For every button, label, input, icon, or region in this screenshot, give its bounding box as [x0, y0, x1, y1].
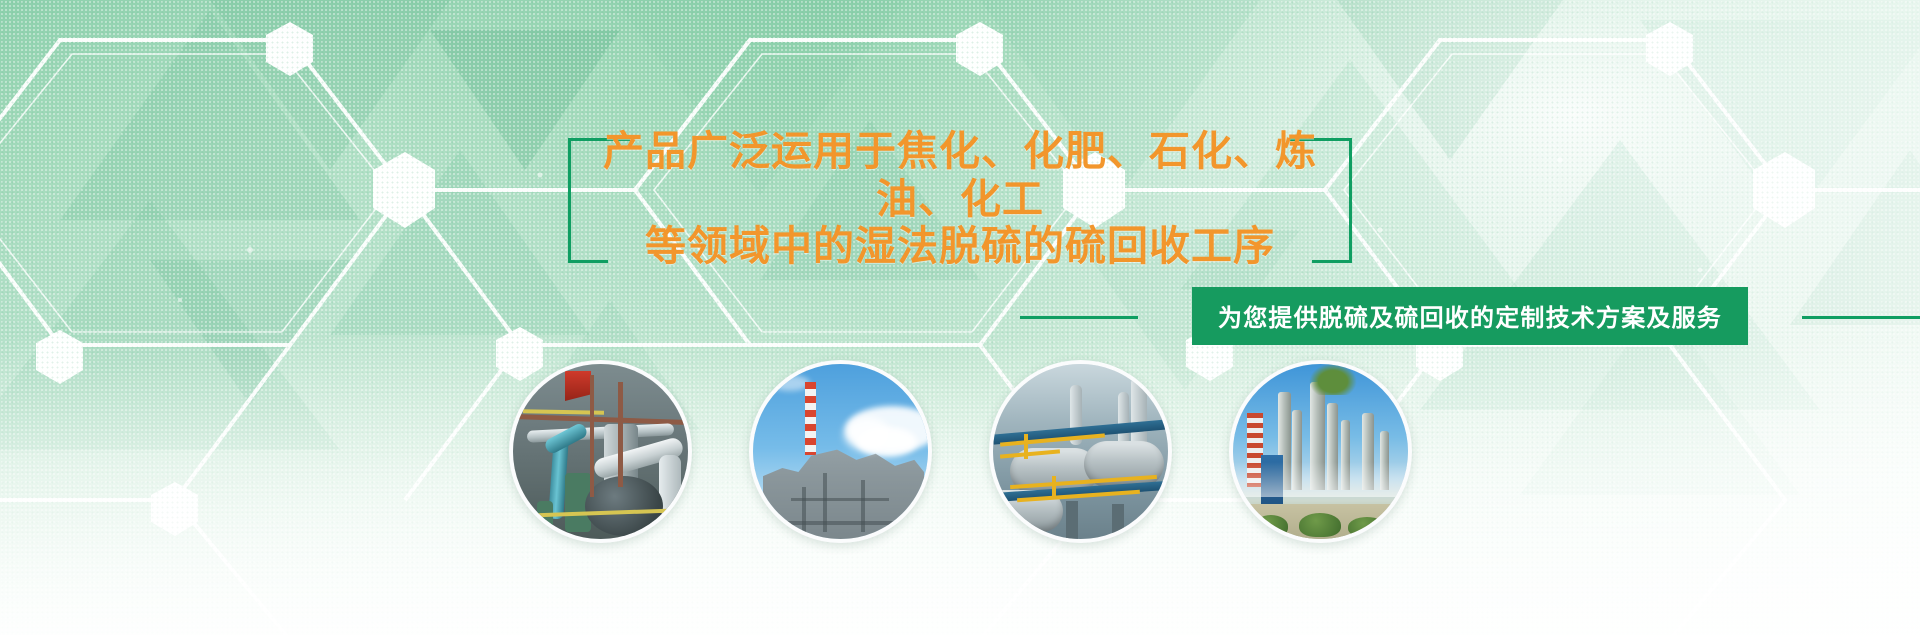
promo-banner: 产品广泛运用于焦化、化肥、石化、炼油、化工 等领域中的湿法脱硫的硫回收工序 为您…	[0, 0, 1920, 635]
headline-text: 产品广泛运用于焦化、化肥、石化、炼油、化工 等领域中的湿法脱硫的硫回收工序	[568, 128, 1352, 271]
photo-circle-pressure-vessel-platform[interactable]	[989, 360, 1172, 543]
photo-image-3	[993, 364, 1168, 539]
subtitle-rule-right	[1802, 316, 1920, 319]
headline-bracket-row: 产品广泛运用于焦化、化肥、石化、炼油、化工 等领域中的湿法脱硫的硫回收工序	[568, 128, 1352, 271]
photo-circle-row	[0, 360, 1920, 543]
photo-circle-desulfurization-piping-plant[interactable]	[509, 360, 692, 543]
subtitle-row: 为您提供脱硫及硫回收的定制技术方案及服务	[1020, 287, 1920, 345]
headline-line-1: 产品广泛运用于焦化、化肥、石化、炼油、化工	[576, 128, 1344, 223]
photo-image-2	[753, 364, 928, 539]
headline-line-2: 等领域中的湿法脱硫的硫回收工序	[576, 223, 1344, 271]
subtitle-banner: 为您提供脱硫及硫回收的定制技术方案及服务	[1192, 287, 1748, 345]
subtitle-rule-left	[1020, 316, 1138, 319]
photo-circle-refinery-with-smokestack[interactable]	[749, 360, 932, 543]
headline-block: 产品广泛运用于焦化、化肥、石化、炼油、化工 等领域中的湿法脱硫的硫回收工序 为您…	[0, 128, 1920, 345]
photo-image-4	[1233, 364, 1408, 539]
photo-circle-refinery-distillation-columns[interactable]	[1229, 360, 1412, 543]
photo-image-1	[513, 364, 688, 539]
